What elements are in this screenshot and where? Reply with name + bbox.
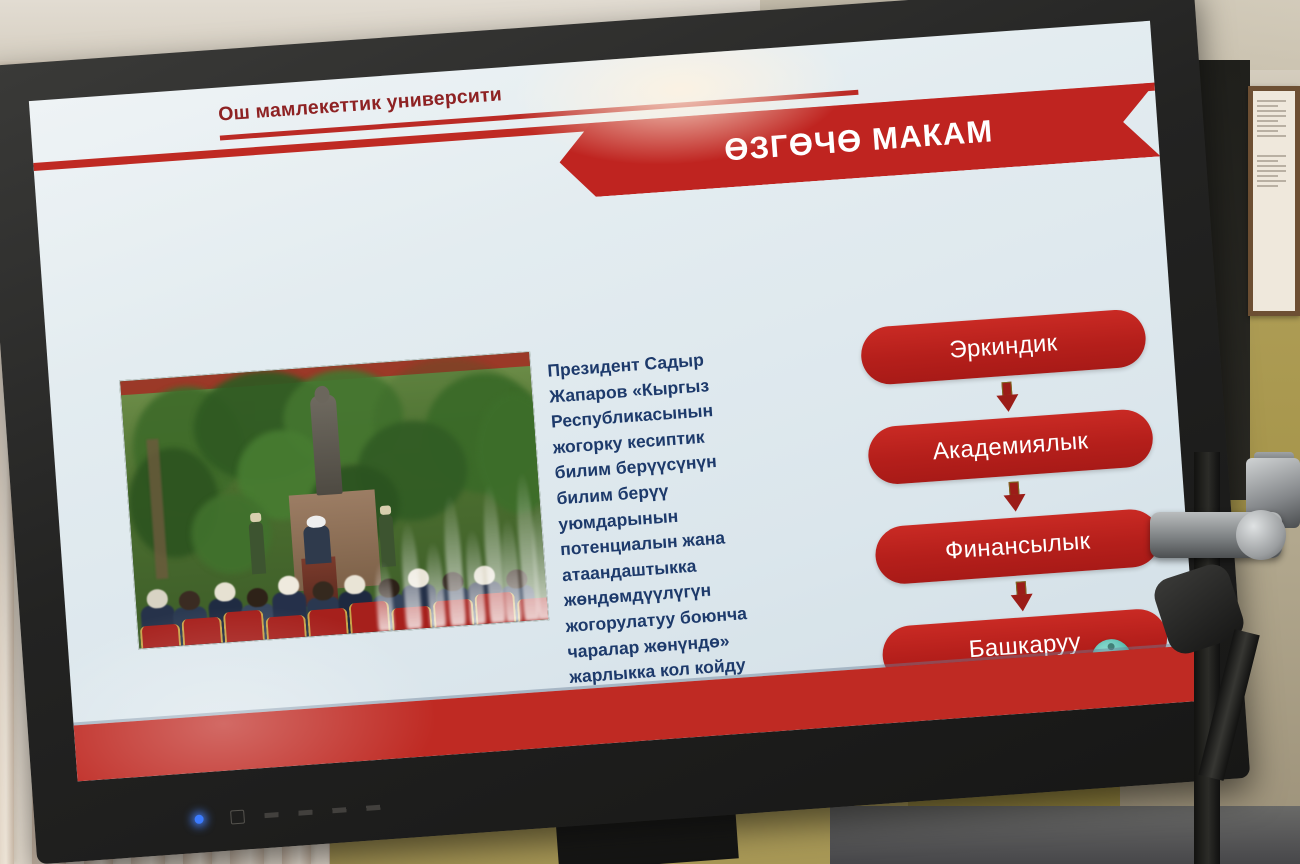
presentation-slide: Ош мамлекеттик университи ӨЗГӨЧӨ МАКАМ [29, 21, 1199, 782]
flow-item-2-label: Академиялык [932, 427, 1089, 466]
rig-lens-cap [1236, 510, 1286, 560]
screenshot-scene: Ош мамлекеттик университи ӨЗГӨЧӨ МАКАМ [0, 0, 1300, 864]
flow-item-3-label: Финансылык [944, 527, 1091, 565]
power-led-icon [194, 814, 204, 824]
flow-item-1-label: Эркиндик [949, 329, 1059, 365]
framed-notice [1248, 86, 1300, 316]
slide-title-text: ӨЗГӨЧӨ МАКАМ [723, 113, 994, 168]
slide-photo [119, 351, 549, 650]
slide-title-banner: ӨЗГӨЧӨ МАКАМ [557, 83, 1161, 200]
menu-button[interactable] [230, 810, 245, 825]
display-monitor[interactable]: Ош мамлекеттик университи ӨЗГӨЧӨ МАКАМ [0, 0, 1252, 864]
flow-chart: Эркиндик Академиялык Финансылык Башкаруу [859, 308, 1169, 685]
control-buttons[interactable] [264, 804, 394, 818]
slide-paragraph: Президент Садыр Жапаров «Кыргыз Республи… [547, 344, 782, 691]
camera-rig [1150, 452, 1300, 864]
